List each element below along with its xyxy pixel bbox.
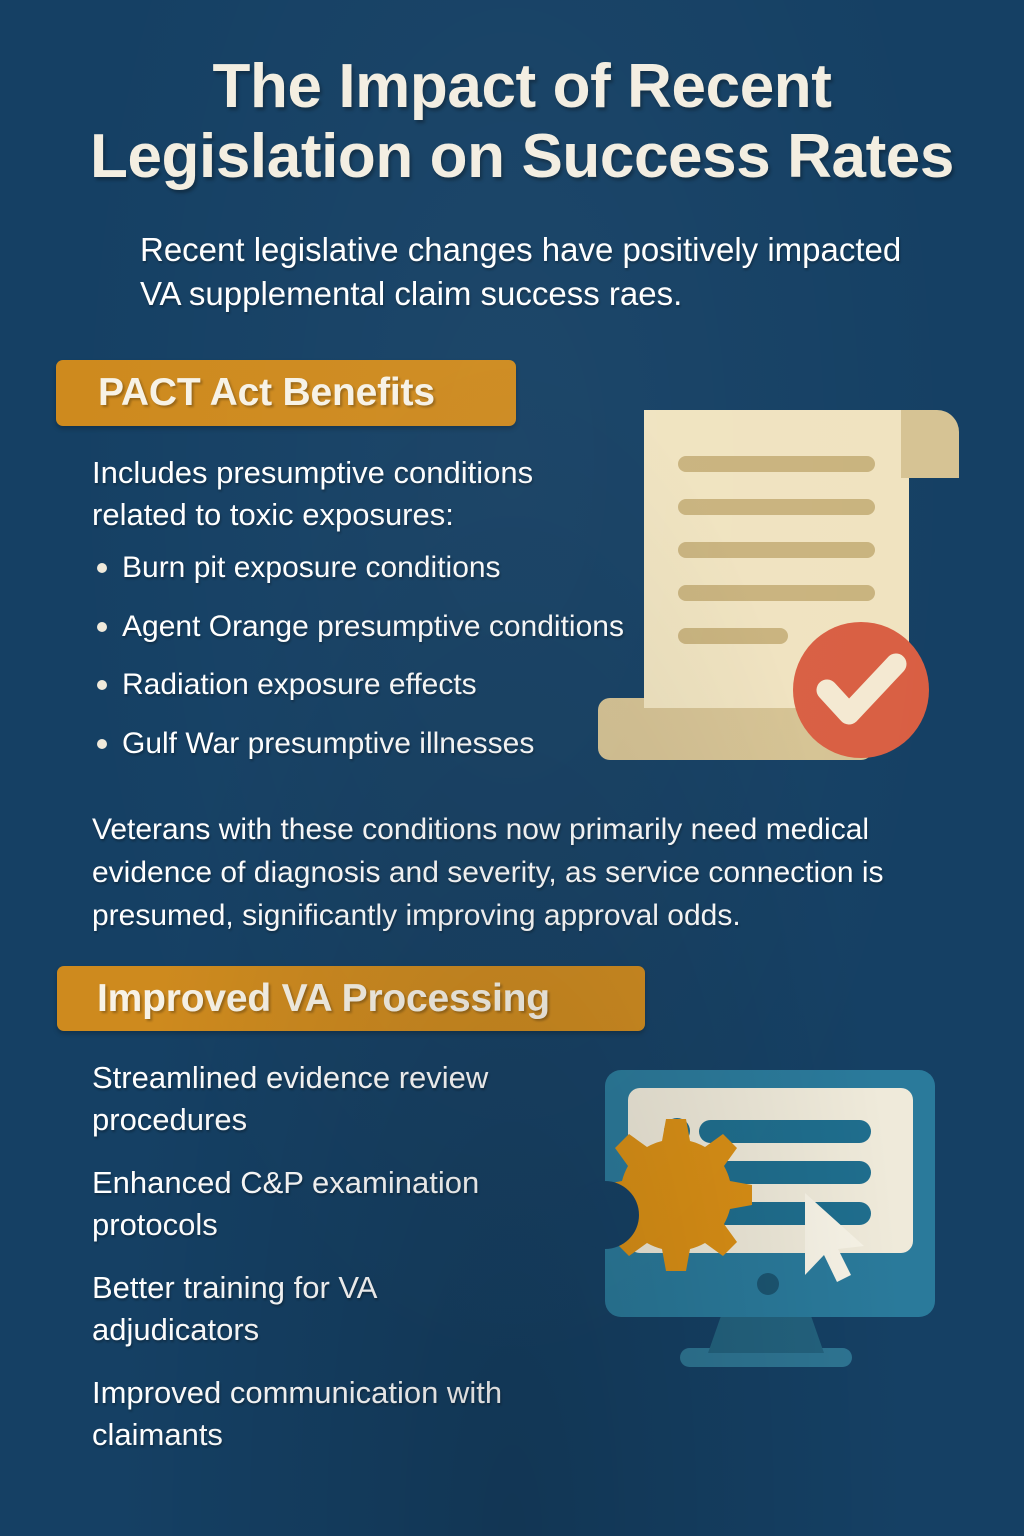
document-text-line: [678, 628, 788, 644]
pact-bullet-list: Burn pit exposure conditions Agent Orang…: [92, 548, 632, 782]
section-badge-improved-processing: Improved VA Processing: [57, 966, 645, 1031]
document-checkmark-illustration: [596, 398, 986, 778]
document-text-line: [678, 499, 875, 515]
pact-lead-text: Includes presumptive conditions related …: [92, 452, 622, 537]
document-curl: [901, 410, 959, 478]
section-badge-pact-act: PACT Act Benefits: [56, 360, 516, 426]
monitor-gear-illustration: [500, 1045, 980, 1385]
list-item: Agent Orange presumptive conditions: [92, 607, 632, 647]
pact-summary-paragraph: Veterans with these conditions now prima…: [92, 808, 972, 938]
list-item: Enhanced C&P examination protocols: [92, 1162, 532, 1245]
list-item: Radiation exposure effects: [92, 665, 632, 705]
list-item: Streamlined evidence review procedures: [92, 1057, 532, 1140]
document-text-line: [678, 456, 875, 472]
monitor-stand: [708, 1313, 824, 1353]
page-subtitle: Recent legislative changes have positive…: [140, 228, 930, 316]
document-text-line: [678, 585, 875, 601]
list-item: Burn pit exposure conditions: [92, 548, 632, 588]
document-text-line: [678, 542, 875, 558]
list-item: Gulf War presumptive illnesses: [92, 724, 632, 764]
processing-item-list: Streamlined evidence review procedures E…: [92, 1057, 532, 1477]
infographic-poster: The Impact of Recent Legislation on Succ…: [0, 0, 1024, 1536]
list-item: Improved communication with claimants: [92, 1372, 532, 1455]
monitor-power-dot: [757, 1273, 779, 1295]
list-item: Better training for VA adjudicators: [92, 1267, 532, 1350]
page-title: The Impact of Recent Legislation on Succ…: [52, 52, 992, 192]
